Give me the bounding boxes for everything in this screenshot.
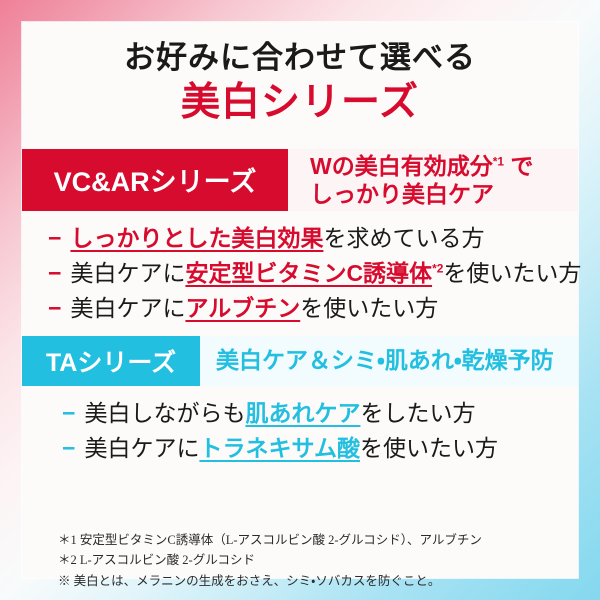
- promo-poster: お好みに合わせて選べる 美白シリーズ VC&ARシリーズWの美白有効成分*1 で…: [0, 0, 600, 600]
- series-tag-ta: TAシリーズ: [22, 336, 200, 386]
- plain-text: 美白しながらも: [84, 400, 245, 426]
- bullet-dash-icon: −: [48, 227, 61, 250]
- series-list: VC&ARシリーズWの美白有効成分*1 でしっかり美白ケア−しっかりとした美白効…: [22, 149, 578, 460]
- list-item: −しっかりとした美白効果を求めている方: [48, 227, 578, 250]
- bullet-dash-icon: −: [48, 262, 61, 285]
- plain-text: を使いたい方: [300, 295, 438, 321]
- plain-text: を求めている方: [323, 225, 484, 251]
- plain-text: を使いたい方: [360, 435, 498, 461]
- highlighted-term: トラネキサム酸: [199, 435, 360, 461]
- plain-text: を使いたい方: [443, 260, 581, 286]
- footnote-line: ※ 美白とは、メラニンの生成をおさえ、シミ・ソバカスを防ぐこと。: [58, 571, 482, 591]
- highlighted-term: 安定型ビタミンC誘導体: [185, 260, 432, 286]
- content-card: お好みに合わせて選べる 美白シリーズ VC&ARシリーズWの美白有効成分*1 で…: [22, 22, 578, 578]
- list-item-label: 美白ケアにアルブチンを使いたい方: [70, 297, 438, 320]
- series-description-line1: 美白ケア＆シミ・肌あれ・乾燥予防: [216, 347, 578, 375]
- series-banner-ta: TAシリーズ美白ケア＆シミ・肌あれ・乾燥予防: [22, 336, 578, 386]
- series-banner-vc-ar: VC&ARシリーズWの美白有効成分*1 でしっかり美白ケア: [22, 149, 578, 211]
- bullet-dash-icon: −: [62, 437, 75, 460]
- list-item-label: 美白しながらも肌あれケアをしたい方: [84, 402, 475, 425]
- highlighted-term: アルブチン: [185, 295, 300, 321]
- list-item-label: 美白ケアにトラネキサム酸を使いたい方: [84, 437, 498, 460]
- bullet-dash-icon: −: [48, 297, 61, 320]
- plain-text: 美白ケアに: [84, 435, 199, 461]
- series-description-vc-ar: Wの美白有効成分*1 でしっかり美白ケア: [288, 149, 578, 211]
- plain-text: 美白ケアに: [70, 295, 185, 321]
- list-item-label: しっかりとした美白効果を求めている方: [70, 227, 484, 250]
- bullet-list-ta: −美白しながらも肌あれケアをしたい方−美白ケアにトラネキサム酸を使いたい方: [22, 402, 578, 460]
- list-item: −美白しながらも肌あれケアをしたい方: [62, 402, 578, 425]
- footnote-marker: *2: [432, 261, 443, 275]
- headline-subtitle: お好みに合わせて選べる: [22, 38, 578, 77]
- list-item-label: 美白ケアに安定型ビタミンC誘導体*2を使いたい方: [70, 262, 581, 285]
- bullet-dash-icon: −: [62, 402, 75, 425]
- page-title: お好みに合わせて選べる 美白シリーズ: [22, 22, 578, 127]
- series-description-line2: しっかり美白ケア: [310, 180, 578, 208]
- series-tag-vc-ar: VC&ARシリーズ: [22, 149, 288, 211]
- footnotes: ＊1 安定型ビタミンC誘導体（L-アスコルビン酸 2-グルコシド）、アルブチン＊…: [58, 530, 482, 591]
- list-item: −美白ケアに安定型ビタミンC誘導体*2を使いたい方: [48, 262, 578, 285]
- plain-text: 美白ケアに: [70, 260, 185, 286]
- list-item: −美白ケアにトラネキサム酸を使いたい方: [62, 437, 578, 460]
- plain-text: をしたい方: [360, 400, 475, 426]
- series-description-line1: Wの美白有効成分*1 で: [310, 152, 578, 180]
- highlighted-term: しっかりとした美白効果: [70, 225, 323, 251]
- list-item: −美白ケアにアルブチンを使いたい方: [48, 297, 578, 320]
- footnote-line: ＊2 L-アスコルビン酸 2-グルコシド: [58, 550, 482, 570]
- footnote-line: ＊1 安定型ビタミンC誘導体（L-アスコルビン酸 2-グルコシド）、アルブチン: [58, 530, 482, 550]
- bullet-list-vc-ar: −しっかりとした美白効果を求めている方−美白ケアに安定型ビタミンC誘導体*2を使…: [22, 227, 578, 320]
- headline-main: 美白シリーズ: [22, 79, 578, 127]
- highlighted-term: 肌あれケア: [245, 400, 360, 426]
- series-description-ta: 美白ケア＆シミ・肌あれ・乾燥予防: [200, 336, 578, 386]
- footnote-marker: *1: [493, 154, 504, 168]
